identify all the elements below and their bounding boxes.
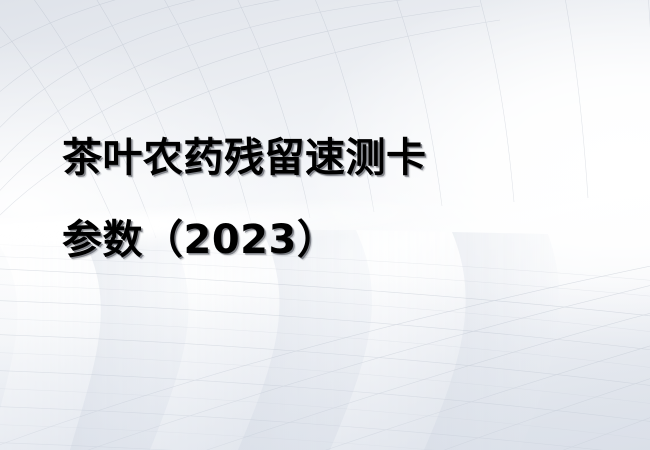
title-line-secondary: 参数（2023） — [62, 220, 582, 260]
slide-title: 茶叶农药残留速测卡 参数（2023） — [62, 138, 582, 260]
title-line-primary: 茶叶农药残留速测卡 — [62, 138, 582, 178]
slide-canvas: 茶叶农药残留速测卡 参数（2023） — [0, 0, 650, 450]
